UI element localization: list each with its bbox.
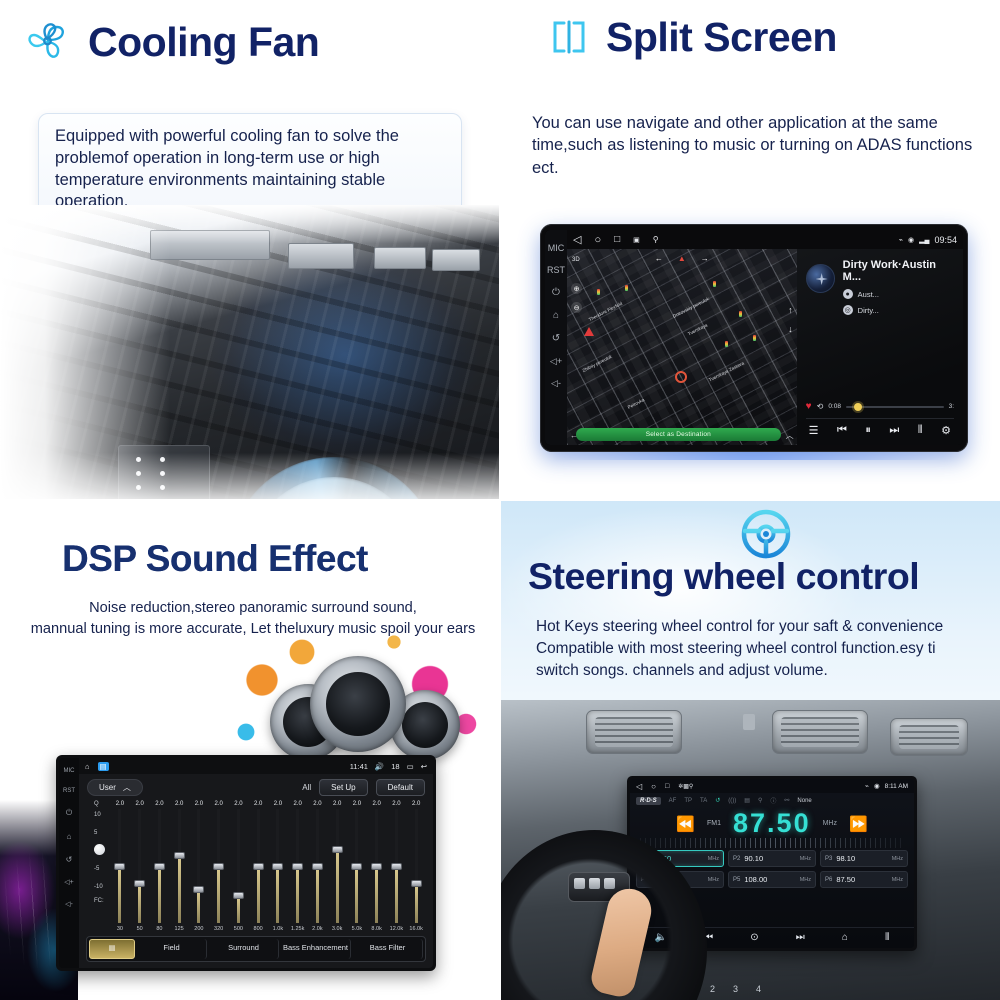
map-arrow-down-icon[interactable]: ↓ [788, 324, 793, 334]
band-thumb[interactable] [213, 863, 224, 870]
swc-left-key[interactable] [574, 878, 585, 889]
band-thumb[interactable] [154, 863, 165, 870]
seek-down-icon[interactable]: ⏪ [676, 815, 695, 833]
band-q-value: 2.0 [135, 801, 143, 807]
home-circle-icon[interactable]: ○ [594, 234, 601, 246]
band-frequency-label: 1.0k [273, 926, 283, 932]
home-icon[interactable]: ⌂ [85, 762, 90, 771]
side-button-rail[interactable]: MIC RST ⏻ ⌂ ↺ ◁+ ◁- [59, 758, 79, 968]
device-bezel: MIC RST ⏻ ⌂ ↺ ◁+ ◁- ◁ ○ □ [540, 224, 968, 452]
air-vent-right [772, 710, 868, 754]
preset-index: P2 [733, 856, 740, 862]
q-label: Q [94, 801, 99, 807]
scale-label: 5 [94, 830, 97, 836]
eq-tab-surround[interactable]: Surround [209, 939, 279, 959]
band-frequency-label: 5.0k [352, 926, 362, 932]
mic-icon[interactable]: MIC [64, 768, 75, 774]
band-frequency-label: 320 [214, 926, 223, 932]
arrow-left-icon[interactable]: ← [570, 431, 578, 440]
equalizer-band[interactable]: 2.030 [110, 801, 130, 932]
horizontal-divider [0, 499, 1000, 501]
map-left-arrow-icon[interactable]: ← [655, 254, 663, 263]
back-triangle-icon[interactable]: ◁ [636, 782, 642, 791]
volume-up-icon[interactable]: ◁+ [550, 357, 562, 366]
split-screen-heading: Split Screen [546, 14, 837, 60]
music-player-pane[interactable]: Dirty Work·Austin M... ● Aust... ◎ Dirty… [797, 249, 963, 445]
back-icon[interactable]: ↺ [552, 334, 560, 344]
preset-index: P6 [825, 877, 832, 883]
band-frequency-label: 8.0k [371, 926, 381, 932]
band-slider[interactable] [138, 809, 141, 923]
band-thumb[interactable] [332, 846, 343, 853]
steering-wheel-keys[interactable] [574, 878, 615, 889]
band-frequency-label: 12.0k [390, 926, 403, 932]
back-icon[interactable]: ↺ [66, 855, 73, 864]
app-icon[interactable]: ▣ [633, 236, 640, 244]
volume-up-icon[interactable]: ◁+ [64, 878, 73, 886]
steering-wheel-description: Hot Keys steering wheel control for your… [536, 616, 976, 682]
previous-track-icon[interactable]: ⏮ [837, 424, 847, 437]
band-slider[interactable] [118, 809, 121, 923]
band-slider[interactable] [178, 809, 181, 923]
equalizer-tabs[interactable]: ⦀⦀FieldSurroundBass EnhancementBass Filt… [86, 936, 426, 962]
radio-preset[interactable]: P687.50MHz [820, 871, 908, 888]
scale-label: -5 [94, 866, 99, 872]
band-thumb[interactable] [233, 892, 244, 899]
page-title: DSP Sound Effect [62, 540, 368, 577]
band-frequency-label: 2.0k [312, 926, 322, 932]
air-vent-far-right [890, 718, 968, 756]
volume-down-icon[interactable]: ◁- [551, 379, 561, 388]
scale-label: 10 [94, 812, 101, 818]
preset-unit: MHz [708, 856, 719, 862]
equalizer-area[interactable]: Q 10 5 0 -5 -10 FC: 2.0302.0502.0802.012… [79, 799, 433, 932]
progress-slider[interactable] [846, 406, 944, 408]
misc-icon: ✲▩⚲ [678, 783, 693, 790]
power-icon[interactable]: ⏻ [66, 808, 72, 818]
volume-level: 18 [391, 762, 399, 771]
side-button-rail[interactable]: MIC RST ⏻ ⌂ ↺ ◁+ ◁- [545, 230, 567, 445]
split-panes: ← ▲ → 3D Theodore Fleyfeld Dnirovskiy pe… [567, 249, 963, 445]
artist-name: Aust... [858, 290, 879, 299]
app-icon[interactable]: ▤ [98, 762, 109, 771]
equalizer-band[interactable]: 2.012.0k [387, 801, 407, 932]
equalizer-band[interactable]: 2.0200 [189, 801, 209, 932]
page-title: Steering wheel control [528, 558, 919, 596]
home-icon[interactable]: ⌂ [67, 832, 72, 841]
album-art [806, 264, 835, 293]
eq-tab-bass-enhancement[interactable]: Bass Enhancement [281, 939, 351, 959]
scan-search-icon[interactable]: ⊙ [750, 932, 758, 943]
band-slider[interactable] [257, 809, 260, 923]
bluetooth-icon: ⌁ [899, 236, 903, 244]
preset-selector[interactable]: User ︿ [87, 779, 143, 796]
playlist-icon[interactable]: ☰ [809, 424, 819, 437]
all-label[interactable]: All [302, 783, 311, 792]
gps-icon: ◉ [908, 236, 914, 244]
bluetooth-icon: ⌁ [865, 782, 869, 790]
band-q-value: 2.0 [333, 801, 341, 807]
panel-cooling-fan: Cooling Fan Equipped with powerful cooli… [0, 0, 500, 500]
preset-unit: MHz [892, 856, 903, 862]
band-slider[interactable] [316, 809, 319, 923]
band-thumb[interactable] [134, 880, 145, 887]
back-arrow-icon[interactable]: ↩ [421, 762, 427, 771]
equalizer-band[interactable]: 2.01.0k [268, 801, 288, 932]
preset-unit: MHz [892, 877, 903, 883]
playback-controls[interactable]: ☰ ⏮ ⏸ ⏭ ⦀ ⚙ [806, 418, 954, 437]
rds-none-label: None [797, 798, 811, 804]
search-icon[interactable]: ⚲ [758, 797, 762, 804]
band-q-value: 2.0 [274, 801, 282, 807]
setup-button[interactable]: Set Up [319, 779, 367, 796]
preset-index: P3 [825, 856, 832, 862]
zoom-out-icon[interactable]: ⊖ [571, 302, 582, 313]
list-icon[interactable]: ▤ [744, 797, 750, 804]
equalizer-band[interactable]: 2.080 [150, 801, 170, 932]
dsp-screen: MIC RST ⏻ ⌂ ↺ ◁+ ◁- ⌂ ▤ 11:41 🔊 [59, 758, 433, 968]
settings-gear-icon[interactable]: ⚙ [941, 424, 951, 437]
band-label[interactable]: FM1 [707, 820, 721, 827]
band-slider[interactable] [415, 809, 418, 923]
band-q-value: 2.0 [175, 801, 183, 807]
antenna-icon[interactable]: ⌂ [842, 932, 848, 943]
split-screen-icon [546, 14, 592, 60]
duration-time: 3: [949, 403, 954, 410]
band-slider[interactable] [276, 809, 279, 923]
heart-icon[interactable]: ♥ [806, 401, 812, 412]
equalizer-band[interactable]: 2.08.0k [367, 801, 387, 932]
rds-row[interactable]: R·D·S AF TP TA ↺ (()) ▤ ⚲ ⓘ ⚯ None [630, 793, 914, 808]
equalizer-band[interactable]: 2.01.25k [288, 801, 308, 932]
band-q-value: 2.0 [254, 801, 262, 807]
eq-tab-bass-filter[interactable]: Bass Filter [353, 939, 423, 959]
pause-icon[interactable]: ⏸ [865, 424, 871, 437]
rds-af[interactable]: AF [669, 798, 677, 804]
band-frequency-label: 3.0k [332, 926, 342, 932]
map-scroll-arrows[interactable]: ↑ ↓ [788, 305, 793, 334]
equalizer-scale: Q 10 5 0 -5 -10 FC: [84, 801, 110, 932]
preset-frequency: 98.10 [836, 854, 855, 863]
gps-icon: ◉ [874, 782, 880, 790]
equalizer-settings-icon[interactable]: ⦀ [885, 932, 889, 943]
band-frequency-label: 125 [175, 926, 184, 932]
band-q-value: 2.0 [116, 801, 124, 807]
panel-steering-wheel-control: Steering wheel control Hot Keys steering… [500, 500, 1000, 1000]
band-slider[interactable] [336, 809, 339, 923]
status-time: 8:11 AM [885, 783, 908, 790]
disc-icon: ◎ [843, 305, 853, 315]
mic-icon[interactable]: MIC [548, 244, 565, 253]
preset-frequency: 87.50 [836, 875, 855, 884]
band-slider[interactable] [237, 809, 240, 923]
tuner-row[interactable]: ⏪ FM1 87.50 MHz ⏩ [630, 808, 914, 837]
recents-square-icon[interactable]: □ [665, 783, 669, 790]
console-button-2: 2 [710, 984, 715, 994]
band-frequency-label: 80 [156, 926, 162, 932]
band-slider[interactable] [355, 809, 358, 923]
radio-preset[interactable]: P398.10MHz [820, 850, 908, 867]
band-slider[interactable] [197, 809, 200, 923]
power-icon[interactable]: ⏻ [552, 288, 560, 298]
equalizer-bands[interactable]: 2.0302.0502.0802.01252.02002.03202.05002… [110, 801, 426, 932]
android-statusbar: ◁ ○ □ ▣ ⚲ ⌁ ◉ ▂▄ 09:54 [567, 230, 963, 249]
band-q-value: 2.0 [392, 801, 400, 807]
equalizer-band[interactable]: 2.0800 [248, 801, 268, 932]
band-thumb[interactable] [292, 863, 303, 870]
preset-unit: MHz [708, 877, 719, 883]
map-top-controls[interactable]: ← ▲ → [567, 254, 797, 263]
equalizer-band[interactable]: 2.0320 [209, 801, 229, 932]
page-title: Cooling Fan [88, 22, 319, 63]
dsp-device: MIC RST ⏻ ⌂ ↺ ◁+ ◁- ⌂ ▤ 11:41 🔊 [56, 755, 436, 971]
band-frequency-label: 30 [117, 926, 123, 932]
zoom-in-icon[interactable]: ⊕ [571, 283, 582, 294]
preset-name: User [99, 783, 116, 792]
band-q-value: 2.0 [372, 801, 380, 807]
band-q-value: 2.0 [234, 801, 242, 807]
navigation-pane[interactable]: ← ▲ → 3D Theodore Fleyfeld Dnirovskiy pe… [567, 249, 797, 445]
stereo-icon[interactable]: (()) [728, 798, 736, 804]
vehicle-marker [584, 327, 594, 336]
fc-label: FC: [94, 898, 104, 904]
band-thumb[interactable] [411, 880, 422, 887]
band-q-value: 2.0 [195, 801, 203, 807]
map-tool-buttons[interactable]: ⊕ ⊖ [571, 283, 582, 313]
band-slider[interactable] [217, 809, 220, 923]
preset-frequency: 108.00 [744, 875, 767, 884]
frequency-unit: MHz [823, 820, 837, 827]
rds-ta[interactable]: TA [700, 798, 707, 804]
default-button[interactable]: Default [376, 779, 425, 796]
volume-icon: 🔊 [375, 762, 384, 771]
band-q-value: 2.0 [155, 801, 163, 807]
device-screen: MIC RST ⏻ ⌂ ↺ ◁+ ◁- ◁ ○ □ [545, 230, 963, 445]
console-button-4: 4 [756, 984, 761, 994]
artist-row: ● Aust... [843, 289, 954, 299]
speakers-photo [240, 650, 470, 765]
recents-square-icon[interactable]: □ [614, 234, 620, 245]
preset-unit: MHz [800, 856, 811, 862]
band-thumb[interactable] [351, 863, 362, 870]
preset-frequency: 90.10 [744, 854, 763, 863]
band-thumb[interactable] [371, 863, 382, 870]
cooling-fan-heading: Cooling Fan [22, 16, 319, 68]
seek-up-icon[interactable]: ⏩ [849, 815, 868, 833]
person-icon: ● [843, 289, 853, 299]
signal-icon: ▂▄ [919, 236, 929, 244]
rst-icon[interactable]: RST [547, 266, 565, 275]
band-thumb[interactable] [253, 863, 264, 870]
band-frequency-label: 800 [254, 926, 263, 932]
rds-items[interactable]: AF TP TA ↺ (()) ▤ ⚲ ⓘ ⚯ [669, 796, 790, 805]
radio-preset[interactable]: P5108.00MHz [728, 871, 816, 888]
location-pin-icon: ⚲ [653, 235, 659, 244]
band-slider[interactable] [375, 809, 378, 923]
chevron-up-icon[interactable]: ︿ [786, 430, 794, 441]
info-icon[interactable]: ⓘ [770, 796, 776, 805]
home-circle-icon[interactable]: ○ [651, 782, 656, 791]
split-screen-description: You can use navigate and other applicati… [532, 112, 982, 179]
band-q-value: 2.0 [313, 801, 321, 807]
master-gain-knob[interactable] [94, 844, 105, 855]
next-track-icon[interactable]: ⏭ [889, 424, 899, 437]
equalizer-band[interactable]: 2.016.0k [406, 801, 426, 932]
rst-icon[interactable]: RST [63, 788, 75, 794]
equalizer-band[interactable]: 2.03.0k [327, 801, 347, 932]
dsp-statusbar: ⌂ ▤ 11:41 🔊 18 ▭ ↩ [79, 758, 433, 774]
next-icon[interactable]: ⏭ [796, 932, 805, 943]
preset-index: P5 [733, 877, 740, 883]
equalizer-band[interactable]: 2.05.0k [347, 801, 367, 932]
fan-icon [22, 16, 74, 68]
eq-tab-field[interactable]: Field [137, 939, 207, 959]
elapsed-time: 0:08 [828, 403, 841, 410]
band-frequency-label: 1.25k [291, 926, 304, 932]
band-slider[interactable] [158, 809, 161, 923]
radio-preset[interactable]: P290.10MHz [728, 850, 816, 867]
feature-infographic: Cooling Fan Equipped with powerful cooli… [0, 0, 1000, 1000]
select-destination-button[interactable]: Select as Destination [576, 428, 781, 441]
status-time: 11:41 [350, 762, 368, 771]
head-unit-device: MIC RST ⏻ ⌂ ↺ ◁+ ◁- ◁ ○ □ [522, 220, 984, 460]
equalizer-band[interactable]: 2.02.0k [308, 801, 328, 932]
rds-tp[interactable]: TP [684, 798, 692, 804]
band-frequency-label: 500 [234, 926, 243, 932]
album-row: ◎ Dirty... [843, 305, 954, 315]
scale-label: -10 [94, 884, 103, 890]
map-view-mode[interactable]: 3D [572, 257, 580, 263]
band-frequency-label: 16.0k [409, 926, 422, 932]
band-q-value: 2.0 [293, 801, 301, 807]
map-right-arrow-icon[interactable]: → [701, 254, 709, 263]
band-slider[interactable] [296, 809, 299, 923]
band-thumb[interactable] [174, 852, 185, 859]
panel-dsp-sound-effect: DSP Sound Effect Noise reduction,stereo … [0, 500, 500, 1000]
band-q-value: 2.0 [214, 801, 222, 807]
equalizer-band[interactable]: 2.050 [130, 801, 150, 932]
frequency-display: 87.50 [733, 810, 811, 837]
eq-tab-equalizer[interactable]: ⦀⦀ [89, 939, 135, 959]
progress-row[interactable]: ♥ ⟲ 0:08 3: [806, 401, 954, 418]
equalizer-band[interactable]: 2.0500 [229, 801, 249, 932]
home-icon[interactable]: ⌂ [553, 311, 559, 321]
band-frequency-label: 200 [194, 926, 203, 932]
band-slider[interactable] [395, 809, 398, 923]
band-q-value: 2.0 [353, 801, 361, 807]
tuning-dial[interactable] [640, 838, 904, 848]
map-arrow-up-icon[interactable]: ↑ [788, 305, 793, 315]
band-thumb[interactable] [193, 886, 204, 893]
equalizer-band[interactable]: 2.0125 [169, 801, 189, 932]
dsp-toolbar[interactable]: User ︿ All Set Up Default [79, 774, 433, 799]
radio-statusbar: ◁ ○ □ ✲▩⚲ ⌁ ◉ 8:11 AM [630, 779, 914, 793]
loop-icon[interactable]: ↺ [715, 797, 720, 804]
track-title: Dirty Work·Austin M... [843, 259, 954, 283]
band-q-value: 2.0 [412, 801, 420, 807]
console-button-3: 3 [733, 984, 738, 994]
volume-down-icon[interactable]: ◁- [65, 900, 73, 908]
lock-icon [743, 714, 755, 730]
band-thumb[interactable] [114, 863, 125, 870]
band-frequency-label: 50 [137, 926, 143, 932]
band-thumb[interactable] [312, 863, 323, 870]
chevron-up-icon: ︿ [123, 782, 131, 793]
panel-split-screen: Split Screen You can use navigate and ot… [500, 0, 1000, 500]
back-triangle-icon[interactable]: ◁ [573, 233, 581, 246]
repeat-icon[interactable]: ⟲ [817, 402, 824, 411]
equalizer-icon[interactable]: ⦀ [918, 424, 923, 437]
band-thumb[interactable] [272, 863, 283, 870]
dsp-description-line1: Noise reduction,stereo panoramic surroun… [20, 598, 486, 619]
swc-ok-key[interactable] [589, 878, 600, 889]
page-title: Split Screen [606, 17, 837, 58]
destination-marker [675, 371, 687, 383]
band-thumb[interactable] [391, 863, 402, 870]
rds-badge[interactable]: R·D·S [636, 797, 661, 805]
preset-unit: MHz [800, 877, 811, 883]
air-vent-left [586, 710, 682, 754]
swc-right-key[interactable] [604, 878, 615, 889]
status-time: 09:54 [934, 235, 957, 245]
card-icon[interactable]: ▭ [407, 762, 414, 771]
scan-icon[interactable]: ⚯ [784, 797, 789, 804]
map-compass-icon[interactable]: ▲ [678, 254, 686, 263]
album-name: Dirty... [858, 306, 879, 315]
circuit-board-photo [0, 205, 500, 500]
console-buttons: 2 3 4 [710, 984, 761, 994]
